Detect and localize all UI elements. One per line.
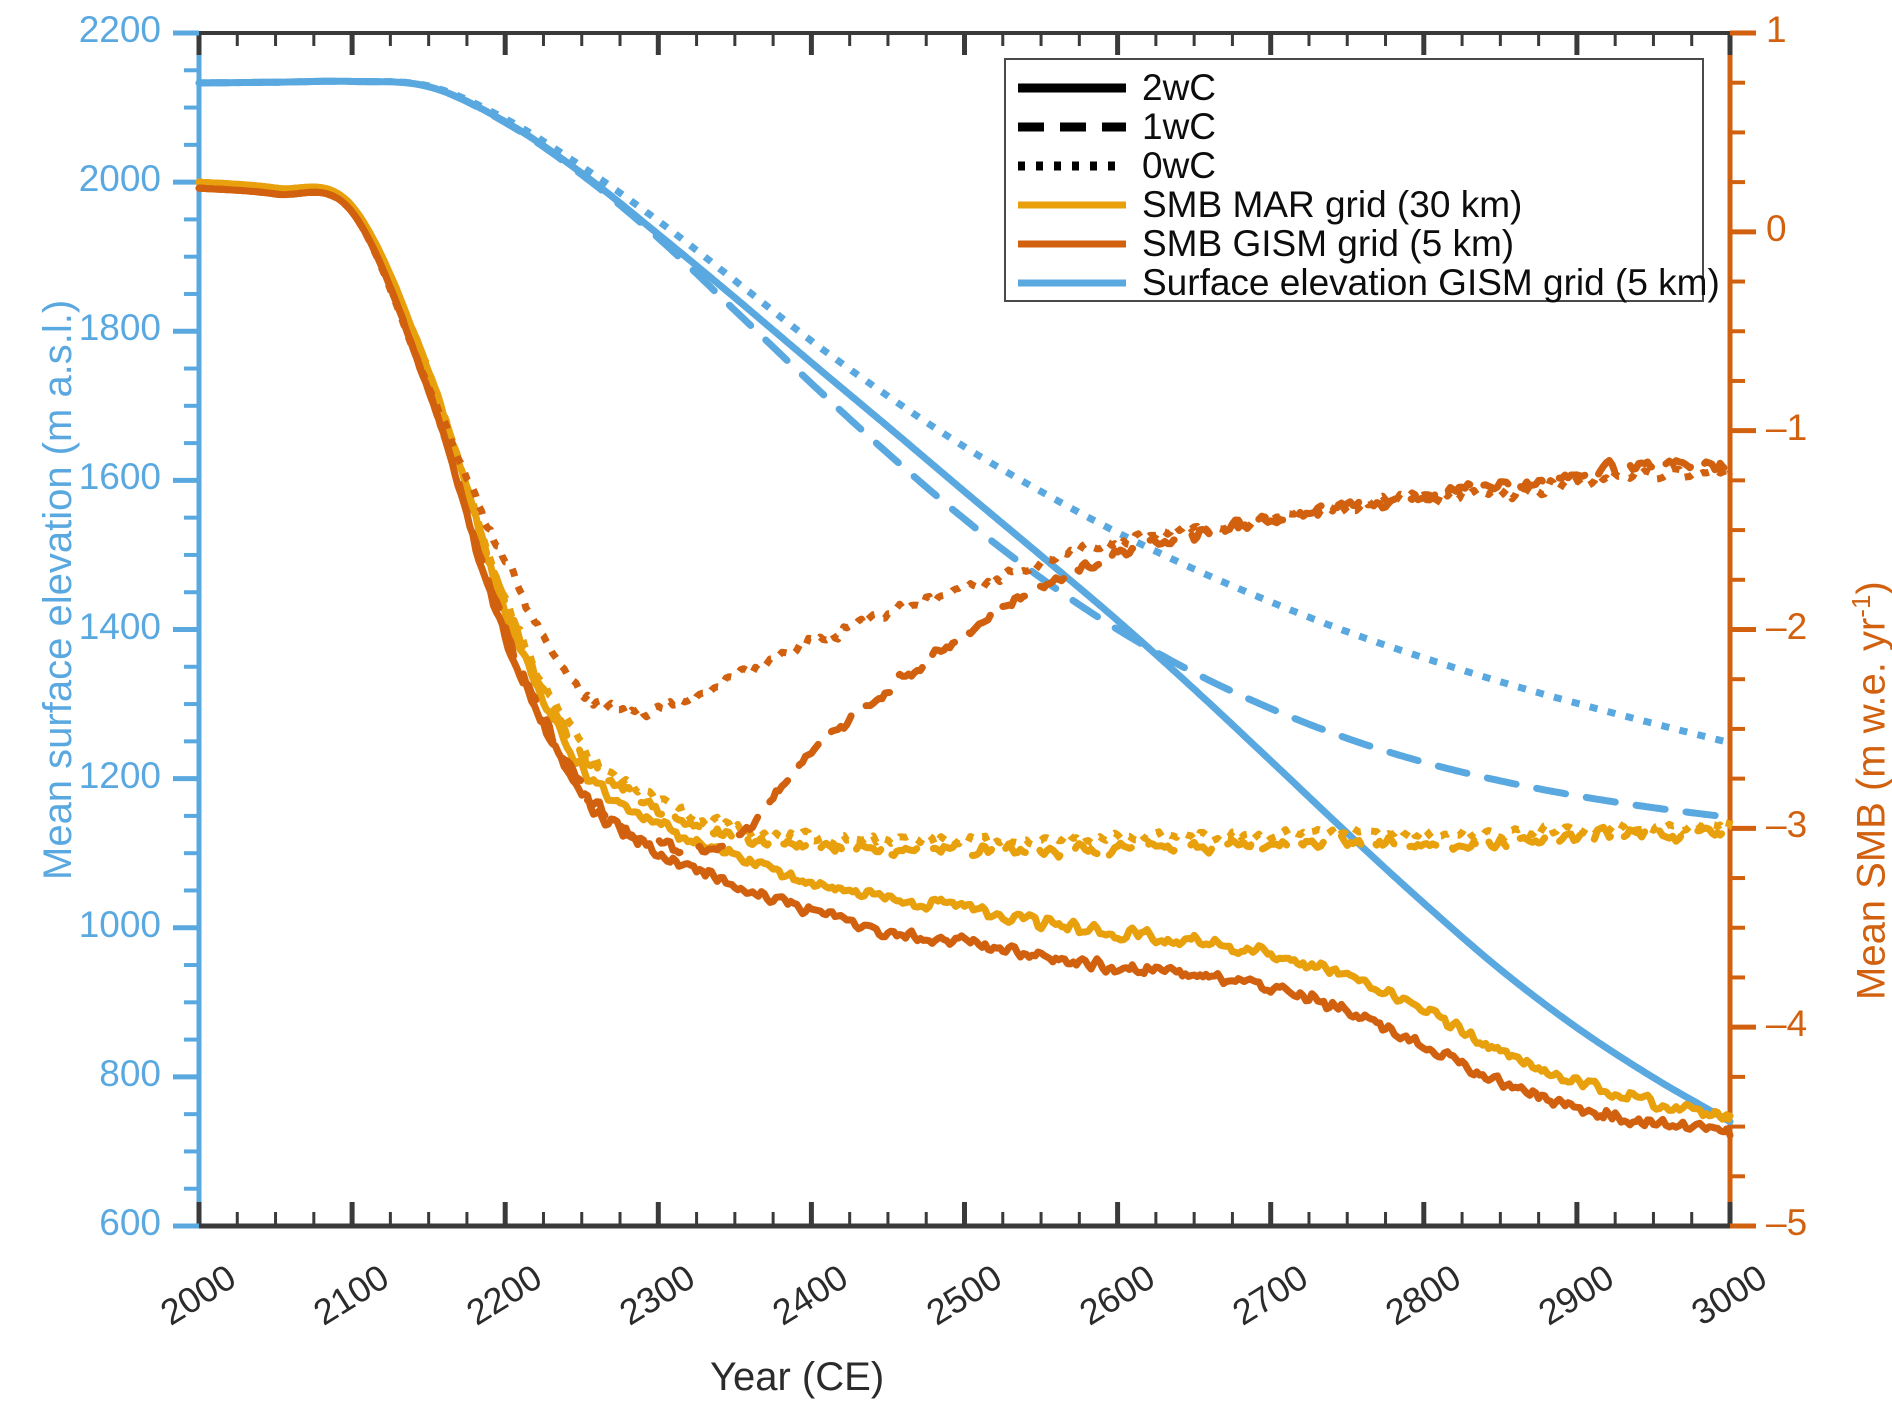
legend-item-label: SMB GISM grid (5 km) (1142, 224, 1514, 264)
legend-item[interactable]: SMB MAR grid (30 km) (1016, 185, 1522, 225)
legend-line-swatch (1016, 273, 1128, 293)
series-line (199, 182, 1730, 1119)
legend-line-swatch (1016, 195, 1128, 215)
legend-box: 2wC1wC0wCSMB MAR grid (30 km)SMB GISM gr… (1004, 58, 1704, 302)
legend-line-swatch (1016, 234, 1128, 254)
legend-item[interactable]: Surface elevation GISM grid (5 km) (1016, 263, 1720, 303)
legend-line-swatch (1016, 117, 1128, 137)
legend-item-label: 2wC (1142, 68, 1216, 108)
legend-item[interactable]: 0wC (1016, 146, 1216, 186)
legend-line-swatch (1016, 156, 1128, 176)
legend-item-label: SMB MAR grid (30 km) (1142, 185, 1522, 225)
legend-item[interactable]: SMB GISM grid (5 km) (1016, 224, 1514, 264)
legend-line-swatch (1016, 78, 1128, 98)
legend-item[interactable]: 2wC (1016, 68, 1216, 108)
legend-item-label: 0wC (1142, 146, 1216, 186)
legend-item-label: 1wC (1142, 107, 1216, 147)
figure-root: Mean surface elevation (m a.s.l.) Mean S… (0, 0, 1892, 1419)
legend-item-label: Surface elevation GISM grid (5 km) (1142, 263, 1720, 303)
series-line (199, 188, 1730, 1135)
legend-item[interactable]: 1wC (1016, 107, 1216, 147)
